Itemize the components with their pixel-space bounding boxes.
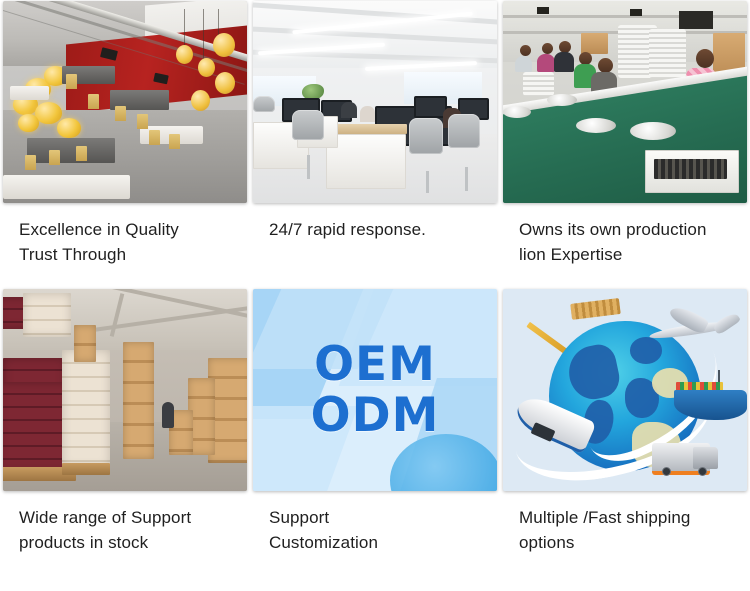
chair-c: [115, 106, 126, 121]
chair-g: [76, 146, 87, 161]
floor-lamp-e: [57, 118, 81, 138]
pendant-wire-b: [203, 9, 204, 62]
odm-line: ODM: [311, 391, 440, 440]
feature-caption-production: Owns its own production lion Expertise: [519, 217, 747, 267]
feature-caption-shipping: Multiple /Fast shipping options: [519, 505, 747, 555]
chair-b: [88, 94, 99, 109]
production-line-photo: [503, 1, 747, 203]
feature-grid: Excellence in Quality Trust Through: [0, 0, 750, 576]
black-parts: [654, 159, 727, 179]
crate-icon: [571, 298, 621, 320]
floor-lamp-d: [35, 102, 62, 124]
floor-lamp-f: [18, 114, 39, 132]
feature-card-customization[interactable]: OEM ODM Support Customization: [250, 288, 500, 576]
display-counter-c: [27, 138, 115, 162]
carton-stack-back: [74, 325, 96, 361]
global-shipping-graphic: [503, 289, 747, 491]
open-plan-office-photo: [253, 1, 497, 203]
carton-back-a: [581, 33, 608, 53]
feature-caption-stock: Wide range of Support products in stock: [19, 505, 247, 555]
oem-line: OEM: [314, 340, 436, 389]
office-chair-d: [253, 96, 275, 112]
warehouse-worker: [162, 402, 174, 428]
office-chair-b: [409, 118, 443, 154]
pendant-wire-a: [184, 9, 185, 49]
feature-card-response[interactable]: 24/7 rapid response.: [250, 0, 500, 288]
office-chair-c-leg: [465, 167, 468, 191]
pendant-lamp-c: [213, 33, 235, 57]
display-table-c: [3, 175, 130, 199]
oem-odm-wordmark: OEM ODM: [253, 289, 497, 491]
feature-caption-customization: Support Customization: [269, 505, 497, 555]
pendant-lamp-e: [191, 90, 210, 111]
warehouse-photo: [3, 289, 247, 491]
worker-head-e: [598, 58, 613, 73]
office-chair-a: [292, 110, 324, 140]
exhibition-showroom-photo: [3, 1, 247, 203]
worker-body-b: [537, 54, 555, 72]
truck-wheel-front: [698, 467, 707, 476]
worker-body-a: [515, 56, 532, 72]
feature-card-shipping[interactable]: Multiple /Fast shipping options: [500, 288, 750, 576]
carton-stack-center: [123, 342, 155, 459]
material-stack-b: [649, 29, 686, 77]
chair-h: [149, 130, 160, 145]
worker-head-d: [579, 52, 592, 65]
material-stack-c: [523, 72, 555, 96]
product-disc-d: [547, 94, 577, 106]
chair-f: [49, 150, 60, 165]
office-worker-a: [341, 102, 357, 118]
product-disc-a: [503, 106, 531, 118]
chair-a: [66, 74, 77, 89]
truck-cab: [693, 447, 717, 469]
desk-wood-top: [334, 124, 407, 134]
chair-i: [169, 134, 180, 149]
feature-caption-quality: Excellence in Quality Trust Through: [19, 217, 247, 267]
monitor-right: [414, 96, 447, 118]
feature-grid-page: Excellence in Quality Trust Through: [0, 0, 750, 591]
pallet-wrapped-main: [62, 350, 111, 467]
roof-fixture-a: [537, 7, 549, 14]
chair-d: [137, 114, 148, 129]
feature-caption-response: 24/7 rapid response.: [269, 217, 497, 242]
pallet-base-mid: [62, 463, 111, 475]
office-chair-a-leg: [307, 155, 310, 179]
chair-e: [25, 155, 36, 170]
roof-fixture-c: [679, 11, 713, 29]
pallet-wrapped-top: [23, 293, 72, 337]
feature-card-quality[interactable]: Excellence in Quality Trust Through: [0, 0, 250, 288]
airplane-tail: [712, 311, 741, 336]
pendant-lamp-d: [215, 72, 235, 94]
roof-fixture-b: [630, 9, 642, 16]
office-chair-b-leg: [426, 171, 429, 193]
feature-card-production[interactable]: Owns its own production lion Expertise: [500, 0, 750, 288]
worker-head-f: [696, 49, 714, 68]
feature-card-stock[interactable]: Wide range of Support products in stock: [0, 288, 250, 576]
worker-body-c: [554, 52, 574, 72]
office-chair-c: [448, 114, 480, 148]
oem-odm-graphic: OEM ODM: [253, 289, 497, 491]
pendant-lamp-b: [198, 58, 215, 77]
display-table-a: [10, 86, 49, 100]
desk-center: [326, 134, 406, 189]
truck-wheel-rear: [662, 467, 671, 476]
office-worker-b: [360, 106, 375, 122]
